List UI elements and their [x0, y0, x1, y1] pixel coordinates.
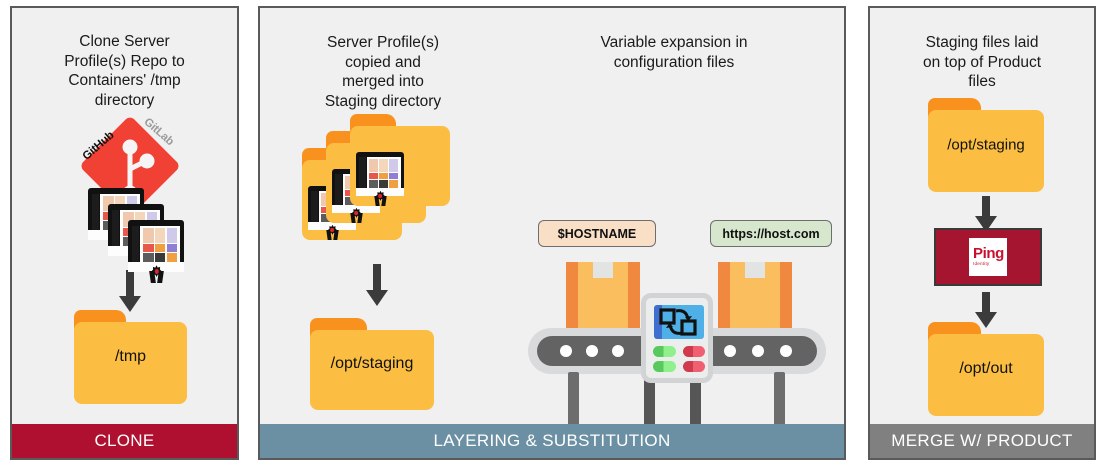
panel-merge-heading: Staging files laid on top of Product fil… [886, 33, 1078, 92]
folder-tmp: /tmp [74, 310, 187, 404]
conveyor-leg [568, 372, 579, 424]
folder-output-out: /opt/out [928, 322, 1044, 416]
substitution-machine [641, 293, 713, 383]
conveyor-box-input [566, 262, 640, 334]
conveyor-roller [560, 345, 572, 357]
conveyor-roller [780, 345, 792, 357]
ping-logo-word: Ping [973, 247, 1004, 261]
panel-merge-body: Staging files laid on top of Product fil… [870, 8, 1094, 424]
panel-clone-heading: Clone Server Profile(s) Repo to Containe… [28, 32, 221, 110]
panel-layering-body: Server Profile(s) copied and merged into… [260, 8, 844, 424]
conveyor-box-output [718, 262, 792, 334]
flow-arrow-down [975, 292, 997, 326]
ping-logo-subtext: Identity [973, 261, 989, 267]
panel-layering-footer: LAYERING & SUBSTITUTION [260, 424, 844, 458]
conveyor-roller [752, 345, 764, 357]
folder-input-staging-label: /opt/staging [928, 137, 1044, 154]
indicator-light-red [683, 346, 706, 357]
panel-clone-footer: CLONE [12, 424, 237, 458]
panel-layering: Server Profile(s) copied and merged into… [258, 6, 846, 460]
flow-arrow-down [366, 264, 388, 308]
conveyor-roller [724, 345, 736, 357]
conveyor-leg [774, 372, 785, 424]
folder-opt-staging: /opt/staging [310, 318, 434, 410]
indicator-light-green [653, 346, 676, 357]
column-variable-expansion-heading: Variable expansion in configuration file… [536, 33, 812, 72]
conveyor-roller [612, 345, 624, 357]
flow-arrow-down [975, 196, 997, 230]
panel-clone: Clone Server Profile(s) Repo to Containe… [10, 6, 239, 460]
column-copy-merge-heading: Server Profile(s) copied and merged into… [288, 33, 478, 111]
panel-merge-footer: MERGE W/ PRODUCT [870, 424, 1094, 458]
folder-tmp-label: /tmp [74, 348, 187, 366]
swap-squares-icon [654, 305, 704, 339]
folder-opt-staging-label: /opt/staging [310, 355, 434, 373]
folder-output-out-label: /opt/out [928, 360, 1044, 378]
indicator-light-red [683, 361, 706, 372]
ping-identity-logo: Ping Identity [969, 238, 1007, 276]
server-profile-doc-icon [128, 220, 184, 283]
substitution-conveyor [528, 224, 826, 424]
conveyor-roller [586, 345, 598, 357]
indicator-light-green [653, 361, 676, 372]
server-profile-doc-icon [356, 152, 404, 206]
panel-merge: Staging files laid on top of Product fil… [868, 6, 1096, 460]
pipeline-diagram: Clone Server Profile(s) Repo to Containe… [0, 0, 1106, 466]
folder-input-staging: /opt/staging [928, 98, 1044, 192]
machine-indicator-lights [653, 346, 705, 372]
product-image-box: Ping Identity [934, 228, 1042, 286]
panel-clone-body: Clone Server Profile(s) Repo to Containe… [12, 8, 237, 424]
